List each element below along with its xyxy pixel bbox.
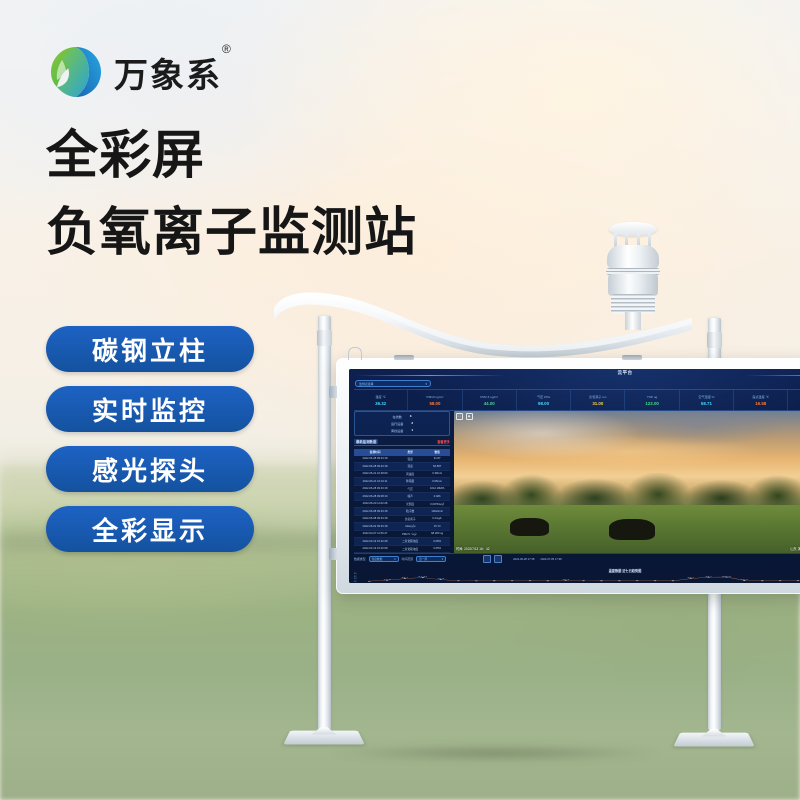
cell-value: 1012.18kPA xyxy=(424,485,450,493)
sensor-radiation-shield xyxy=(611,294,655,314)
stat-online: 在线数 3 xyxy=(355,414,449,419)
table-row: 2022-03-13 15:02:08二氧化硫浓度0.05% xyxy=(354,545,450,553)
metric-pm25: PM2.5 ug/m³ 44.00 xyxy=(463,390,517,410)
device-stats-box: 在线数 3 运行设备 2 离线设备 1 xyxy=(354,411,450,436)
stat-offline: 离线设备 1 xyxy=(355,428,449,433)
cattle-figure xyxy=(609,519,655,540)
stat-value: 2 xyxy=(411,421,413,426)
cell-time: 2022-03-13 15:02:08 xyxy=(354,545,396,553)
svg-text:27.31: 27.31 xyxy=(418,576,428,577)
time-range-value: 近一周 xyxy=(419,557,427,561)
cell-time: 2022-03-13 15:22:28 xyxy=(354,538,396,546)
cell-value: 0.05mm xyxy=(424,478,450,486)
cell-value: 0.38m/s xyxy=(424,470,450,478)
metric-label: TSP ug xyxy=(647,395,657,399)
video-site-label: 山东 滨州 xyxy=(790,546,800,551)
cell-time: 2022-04-07 11:50:47 xyxy=(354,530,396,538)
chart-section: 数据类型 温度数据 ▾ 时间范围 近一周 ▾ xyxy=(354,553,800,581)
product-marketing-image: 万象系 ® 全彩屏 负氧离子监测站 碳钢立柱 实时监控 感光探头 全彩显示 xyxy=(0,0,800,800)
cabinet-side-bracket xyxy=(329,386,337,398)
display-cabinet: 云平台 监测站管理员 退出 监测点选择 ▾ xyxy=(336,358,800,594)
dashboard-panes: 在线数 3 运行设备 2 离线设备 1 xyxy=(354,411,800,553)
cell-value: 0.08% xyxy=(424,538,450,546)
trend-chart: 4032241680 06-28 1816.306-28 2122.406-29… xyxy=(354,573,800,583)
table-row: 2022-06-28 09:33:18湿度52.587 xyxy=(354,463,450,471)
svg-text:16.3: 16.3 xyxy=(383,579,391,580)
cell-time: 2022-06-28 09:08:10 xyxy=(354,493,396,501)
header-deco-right xyxy=(745,375,800,376)
video-timestamp: 时间: 2022/7/13 16：42 xyxy=(456,546,490,551)
table-row: 2022-03-13 15:22:28二氧化碳浓度0.08% xyxy=(354,538,450,546)
chart-view-line-icon[interactable] xyxy=(483,555,491,563)
svg-text:15.2: 15.2 xyxy=(741,579,749,580)
cell-type: 二氧化碳浓度 xyxy=(396,538,424,546)
table-row: 2022-06-28 09:33:18气压1012.18kPA xyxy=(354,485,450,493)
chart-plot: 06-28 1816.306-28 2122.406-29 0027.3106-… xyxy=(354,573,800,583)
chevron-down-icon: ▾ xyxy=(394,557,395,561)
svg-text:16.2: 16.2 xyxy=(562,579,570,580)
chart-view-table-icon[interactable] xyxy=(494,555,502,563)
alarm-panel-title: 最新监测数据 xyxy=(354,439,378,444)
fullscreen-icon[interactable]: ⛶ xyxy=(456,413,463,420)
metric-pm10: PM10 ug/m³ 58.00 xyxy=(408,390,462,410)
metric-value: 31.00 xyxy=(592,401,603,406)
table-row: 2022-04-07 11:50:47PM2.5（ug）68.280 ug xyxy=(354,530,450,538)
metric-label: 温度 ℃ xyxy=(375,394,386,399)
ultrasonic-weather-sensor xyxy=(600,222,666,322)
table-row: 2022-06-20 11:02:28光照度0.007Klx/㎡ xyxy=(354,500,450,508)
cell-type: 风速度 xyxy=(396,470,424,478)
table-row: 2022-06-21 10:10:11降雨量0.05mm xyxy=(354,478,450,486)
cell-value: 130ul/min xyxy=(424,508,450,516)
metric-label: 空气湿度 % xyxy=(698,394,714,399)
cell-value: 0.0db xyxy=(424,493,450,501)
metric-pressure: 气压 KPa 98.00 xyxy=(517,390,571,410)
cell-value: 68.280 ug xyxy=(424,530,450,538)
metric-label: 负氧离子 ion xyxy=(589,394,606,399)
cell-time: 2022-06-28 09:33:18 xyxy=(354,485,396,493)
table-row: 2022-06-28 09:33:18温度31.87 xyxy=(354,456,450,463)
table-row: 2022-06-28 09:08:10噪声0.0db xyxy=(354,493,450,501)
cell-time: 2022-06-02 09:33:18 xyxy=(354,523,396,531)
metric-strip: 温度 ℃ 36.32 PM10 ug/m³ 58.00 PM2.5 ug/m³ … xyxy=(354,389,800,411)
alarm-panel-header: 最新监测数据 查看更多 xyxy=(354,439,450,446)
stat-value: 1 xyxy=(411,428,413,433)
ground-shadow xyxy=(255,742,735,764)
camera-feed[interactable]: ⛶ ◉ 时间: 2022/7/13 16：42 山东 滨州 xyxy=(454,411,800,553)
cell-type: 降雨量 xyxy=(396,478,424,486)
post-collar-right xyxy=(707,332,722,348)
stat-value: 3 xyxy=(410,414,412,419)
site-select[interactable]: 监测点选择 ▾ xyxy=(355,380,431,387)
anchor-base-plate-left xyxy=(283,731,364,745)
dashboard-title: 云平台 xyxy=(618,370,633,376)
metric-negative-ion: 负氧离子 ion 31.00 xyxy=(571,390,625,410)
base-collar-right xyxy=(701,729,726,736)
svg-text:18.2: 18.2 xyxy=(437,578,445,579)
time-range-label: 时间范围 xyxy=(402,557,414,561)
cloud-platform-dashboard: 云平台 监测站管理员 退出 监测点选择 ▾ xyxy=(349,369,800,583)
view-more-link[interactable]: 查看更多 xyxy=(437,439,450,444)
cell-time: 2022-06-28 09:33:18 xyxy=(354,456,396,463)
cell-type: mkw/㎡u xyxy=(396,523,424,531)
svg-text:29.43: 29.43 xyxy=(722,576,732,577)
metric-label: PM10 ug/m³ xyxy=(427,395,444,399)
snapshot-icon[interactable]: ◉ xyxy=(466,413,473,420)
data-type-select[interactable]: 温度数据 ▾ xyxy=(369,556,399,562)
sensor-lower-body xyxy=(608,274,658,296)
cell-value: 15.73 xyxy=(424,523,450,531)
left-pane: 在线数 3 运行设备 2 离线设备 1 xyxy=(354,411,450,553)
date-range: 2022-06-28 17:38 2022-07-05 17:38 xyxy=(513,558,561,561)
video-toolbar: ⛶ ◉ xyxy=(456,413,473,420)
metric-label: 气压 KPa xyxy=(537,394,550,399)
chart-controls: 数据类型 温度数据 ▾ 时间范围 近一周 ▾ xyxy=(354,554,800,563)
stat-running: 运行设备 2 xyxy=(355,421,449,426)
cell-time: 2022-06-21 10:10:11 xyxy=(354,478,396,486)
chevron-down-icon: ▾ xyxy=(426,382,427,386)
site-selector-bar: 监测点选择 ▾ xyxy=(355,380,431,387)
chevron-down-icon: ▾ xyxy=(442,557,443,561)
chart-legend: 最高值 最低值 平均值 实时值 xyxy=(354,563,800,567)
data-type-label: 数据类型 xyxy=(354,557,366,561)
sensor-upper-body xyxy=(607,245,659,269)
cabinet-side-bracket xyxy=(329,548,337,560)
metric-value: 58.00 xyxy=(429,401,440,406)
metric-label: PM2.5 ug/m³ xyxy=(480,395,498,399)
stat-label: 在线数 xyxy=(392,414,401,419)
metric-humidity: 空气湿度 % 58.71 xyxy=(680,390,734,410)
cell-time: 2022-06-20 11:02:28 xyxy=(354,500,396,508)
metric-tsp: TSP ug 123.00 xyxy=(625,390,679,410)
monitoring-station: 云平台 监测站管理员 退出 监测点选择 ▾ xyxy=(0,0,800,800)
svg-text:22.6: 22.6 xyxy=(687,577,695,578)
header-deco-left xyxy=(355,375,505,376)
metric-value: 123.00 xyxy=(645,401,658,406)
table-header-row: 监测时间 类型 数值 xyxy=(354,449,450,456)
cell-type: 光照度 xyxy=(396,500,424,508)
data-type-value: 温度数据 xyxy=(372,557,383,561)
column-header-value: 数值 xyxy=(424,449,450,456)
table-row: 2022-06-08 09:33:18负氧离子0.4mg/L xyxy=(354,515,450,523)
led-screen: 云平台 监测站管理员 退出 监测点选择 ▾ xyxy=(349,369,800,583)
sensor-mount-stem xyxy=(625,312,641,330)
date-start[interactable]: 2022-06-28 17:38 xyxy=(513,558,534,561)
cell-type: 二氧化硫浓度 xyxy=(396,545,424,553)
table-row: 2022-06-21 10:48:09风速度0.38m/s xyxy=(354,470,450,478)
metric-value: 44.00 xyxy=(484,401,495,406)
column-header-time: 监测时间 xyxy=(354,449,396,456)
cattle-figure xyxy=(510,518,549,536)
table-row: 2022-06-02 09:33:18mkw/㎡u15.73 xyxy=(354,523,450,531)
cell-time: 2022-06-28 09:33:18 xyxy=(354,463,396,471)
metric-temperature: 温度 ℃ 36.32 xyxy=(354,390,408,410)
cell-value: 0.007Klx/㎡ xyxy=(424,500,450,508)
date-end[interactable]: 2022-07-05 17:38 xyxy=(540,558,561,561)
chart-title: 温度数据 近七日趋势图 xyxy=(354,568,800,573)
cell-type: 气压 xyxy=(396,485,424,493)
post-collar-left xyxy=(317,330,332,346)
cell-value: 31.87 xyxy=(424,456,450,463)
cell-time: 2022-06-08 09:33:18 xyxy=(354,508,396,516)
cell-type: PM2.5（ug） xyxy=(396,530,424,538)
svg-text:22.4: 22.4 xyxy=(401,577,409,578)
cell-type: 噪声 xyxy=(396,493,424,501)
cell-type: 粒子数 xyxy=(396,508,424,516)
metric-value: 36.32 xyxy=(375,401,386,406)
carbon-steel-post-left xyxy=(318,316,331,730)
cabinet-hook-icon xyxy=(348,347,362,360)
svg-text:28.9: 28.9 xyxy=(705,576,713,577)
column-header-type: 类型 xyxy=(396,449,424,456)
cell-type: 负氧离子 xyxy=(396,515,424,523)
cabinet-mount-tab xyxy=(622,355,642,360)
table-row: 2022-06-08 09:33:18粒子数130ul/min xyxy=(354,508,450,516)
time-range-select[interactable]: 近一周 ▾ xyxy=(416,556,446,562)
anchor-base-plate-right xyxy=(673,733,754,747)
chart-view-toggle xyxy=(483,555,502,563)
latest-data-table: 监测时间 类型 数值 2022-06-28 09:33:18温度31.87202… xyxy=(354,449,450,553)
metric-value: 98.00 xyxy=(538,401,549,406)
cell-value: 0.4mg/L xyxy=(424,515,450,523)
cell-value: 0.05% xyxy=(424,545,450,553)
site-select-value: 监测点选择 xyxy=(359,382,373,386)
metric-value: 58.71 xyxy=(701,401,712,406)
metric-value: 16.58 xyxy=(755,401,766,406)
cell-type: 湿度 xyxy=(396,463,424,471)
metric-dew-point: 露点温度 ℃ 16.58 xyxy=(734,390,788,410)
base-collar-left xyxy=(311,727,336,734)
metric-noise: 噪声 db 46.00 xyxy=(788,390,800,410)
cabinet-mount-tab xyxy=(394,355,414,360)
stat-label: 运行设备 xyxy=(391,421,403,426)
video-pane: ⛶ ◉ 时间: 2022/7/13 16：42 山东 滨州 xyxy=(454,411,800,553)
cell-value: 52.587 xyxy=(424,463,450,471)
metric-label: 露点温度 ℃ xyxy=(752,394,769,399)
cell-time: 2022-06-21 10:48:09 xyxy=(354,470,396,478)
cell-type: 温度 xyxy=(396,456,424,463)
cell-time: 2022-06-08 09:33:18 xyxy=(354,515,396,523)
stat-label: 离线设备 xyxy=(391,428,403,433)
